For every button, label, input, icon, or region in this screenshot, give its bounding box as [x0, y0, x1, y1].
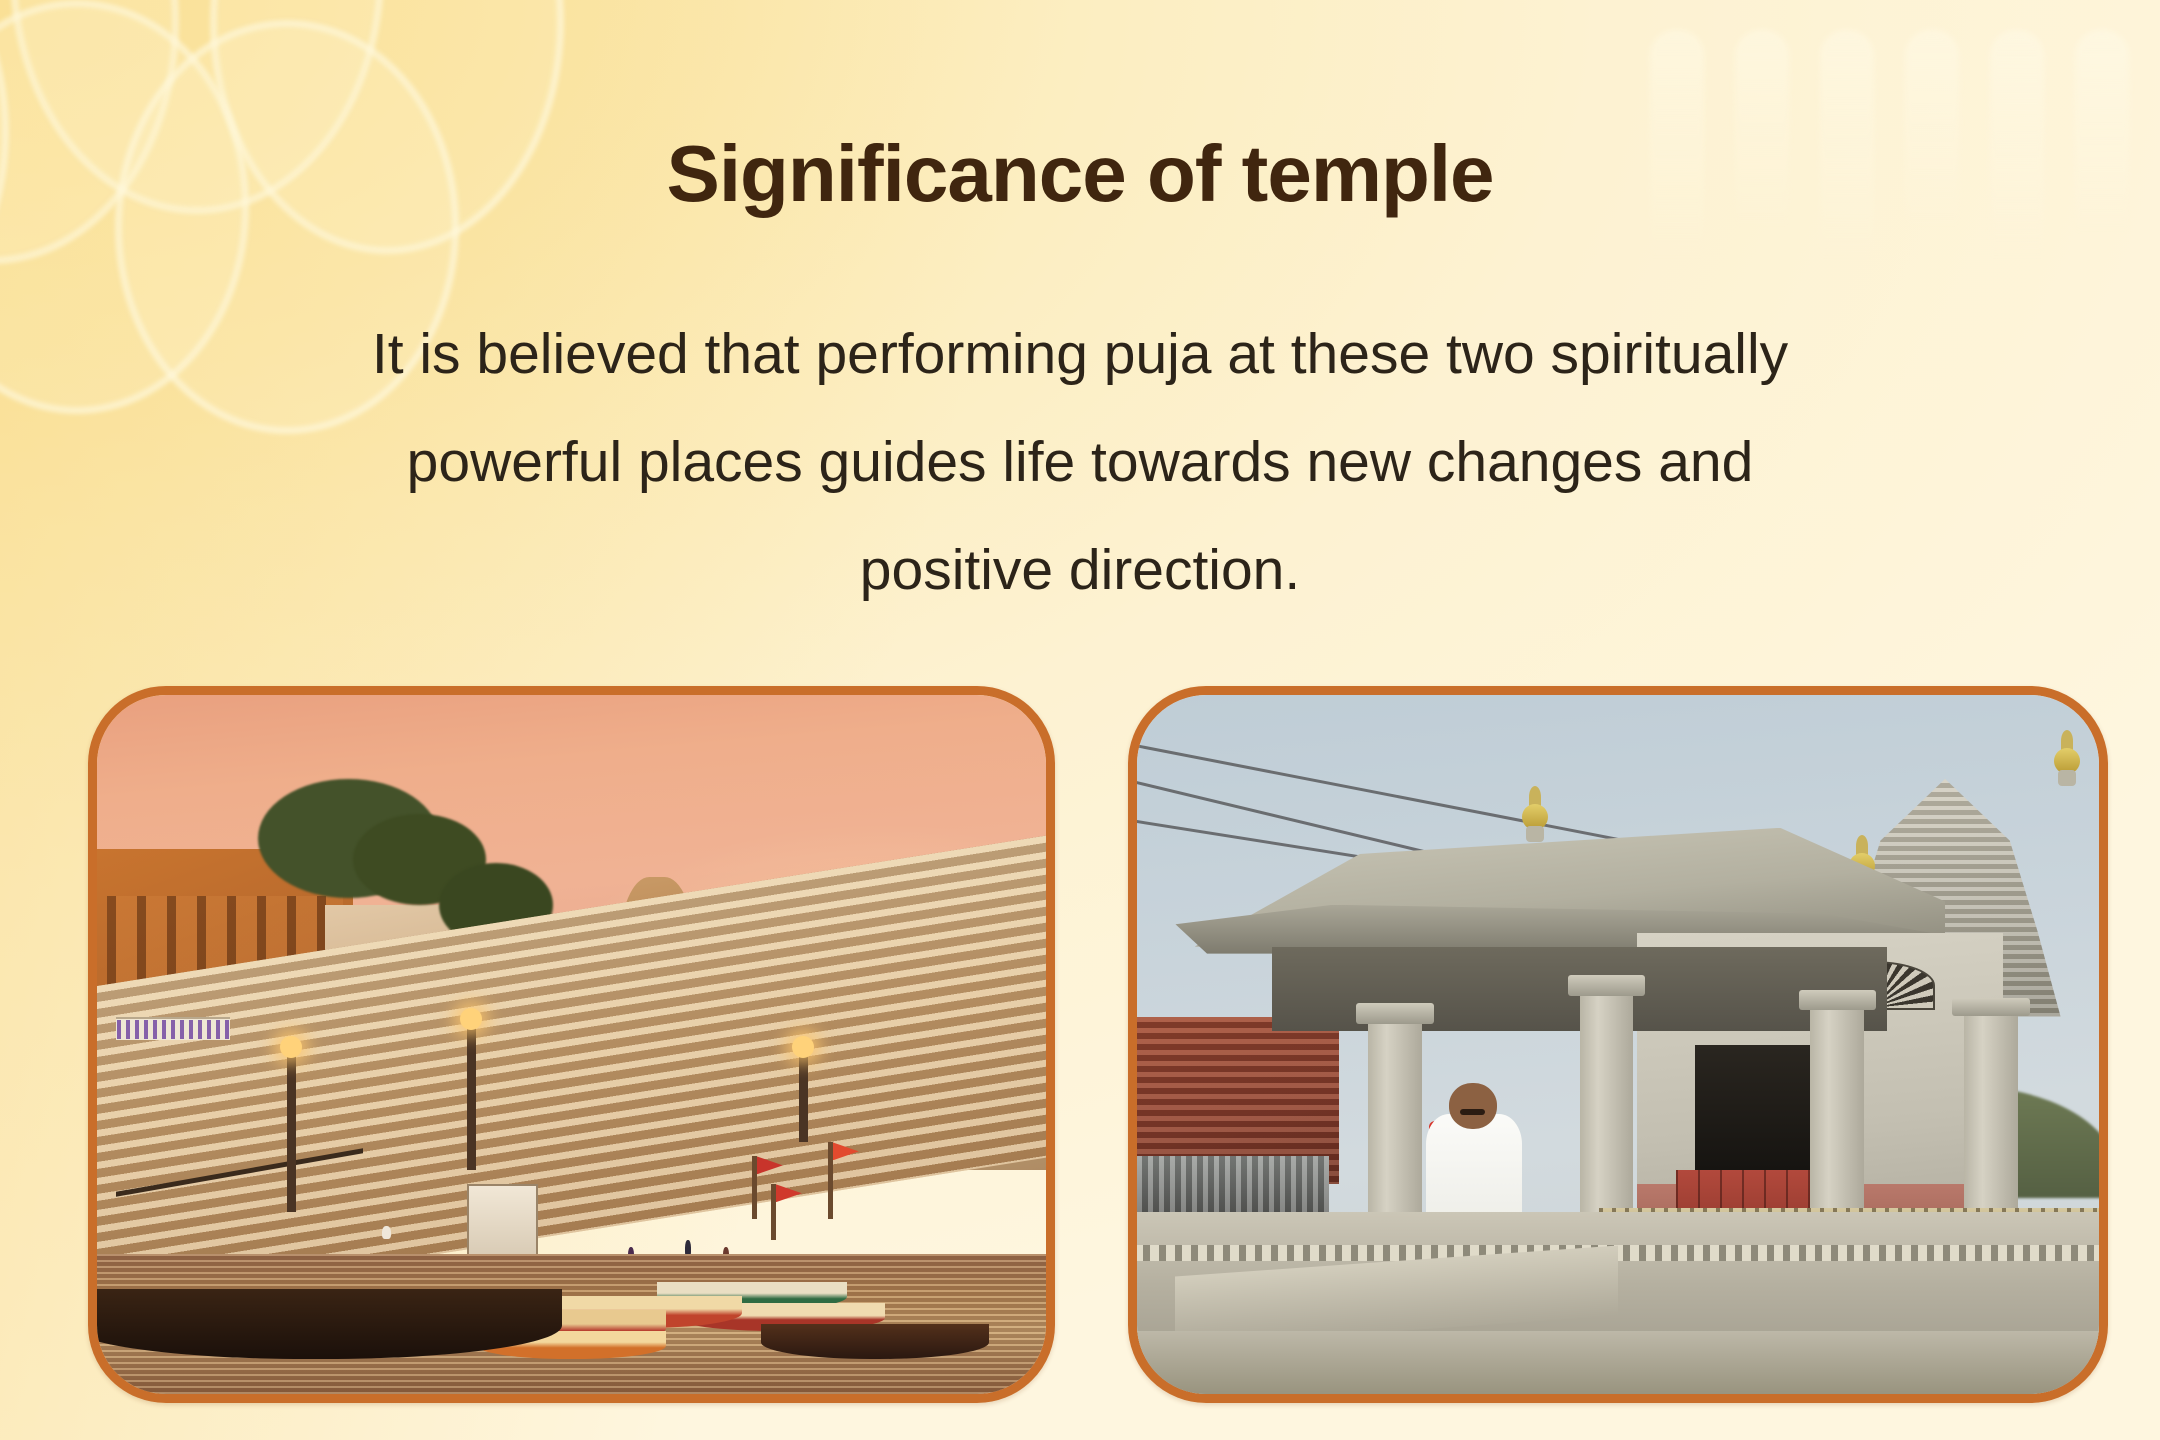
- street-lamp: [799, 1045, 808, 1143]
- body-line-1: It is believed that performing puja at t…: [170, 300, 1990, 408]
- body-paragraph: It is believed that performing puja at t…: [170, 300, 1990, 624]
- body-line-3: positive direction.: [170, 516, 1990, 624]
- plinth-step: [1128, 1331, 2108, 1394]
- street-lamp: [287, 1045, 296, 1213]
- priest-head: [1449, 1083, 1497, 1129]
- wall-banner: [116, 1017, 230, 1040]
- body-line-2: powerful places guides life towards new …: [170, 408, 1990, 516]
- boat: [761, 1324, 989, 1359]
- pilgrim: [382, 1226, 391, 1239]
- flag: [828, 1142, 833, 1219]
- ghat-photo: [97, 695, 1046, 1394]
- image-card-ghat[interactable]: [88, 686, 1055, 1403]
- street-lamp: [467, 1017, 476, 1171]
- page-title: Significance of temple: [0, 128, 2160, 220]
- flag: [752, 1156, 757, 1219]
- slide-canvas: Significance of temple It is believed th…: [0, 0, 2160, 1440]
- boat: [88, 1289, 562, 1359]
- temple-photo: [1137, 695, 2099, 1394]
- image-card-temple[interactable]: [1128, 686, 2108, 1403]
- metal-shed-roof: [1137, 1156, 1329, 1212]
- flag: [771, 1184, 776, 1240]
